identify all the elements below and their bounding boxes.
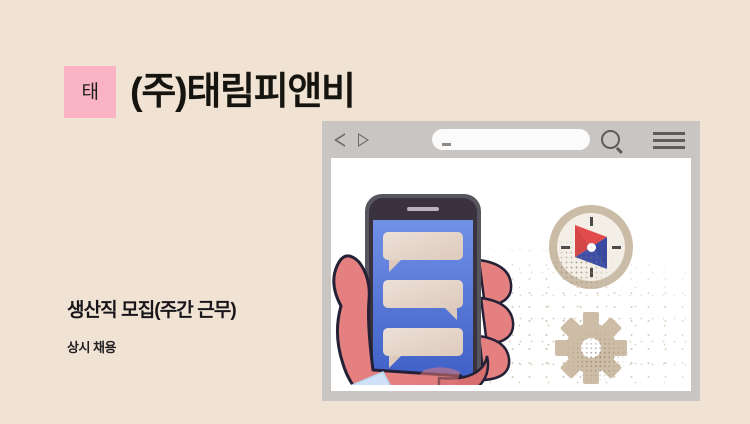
phone-device bbox=[365, 194, 481, 391]
hamburger-menu-icon[interactable] bbox=[653, 132, 685, 148]
back-triangle-icon[interactable] bbox=[334, 133, 345, 147]
poster-canvas: 태 (주)태림피앤비 생산직 모집(주간 근무) 상시 채용 bbox=[0, 0, 750, 424]
gear-icon bbox=[553, 310, 629, 386]
company-logo-text: 태 bbox=[82, 83, 99, 102]
company-logo-badge: 태 bbox=[64, 66, 116, 118]
browser-viewport bbox=[331, 158, 691, 391]
job-subtitle: 상시 채용 bbox=[67, 337, 116, 356]
job-title: 생산직 모집(주간 근무) bbox=[67, 295, 236, 322]
address-bar-input[interactable] bbox=[432, 129, 590, 150]
browser-toolbar bbox=[322, 121, 700, 158]
chat-bubbles bbox=[383, 232, 463, 368]
gear-shape bbox=[553, 310, 629, 386]
compass-face bbox=[557, 213, 625, 281]
compass-icon bbox=[549, 205, 633, 289]
hand-holding-phone bbox=[331, 180, 544, 391]
company-name: (주)태림피앤비 bbox=[130, 73, 355, 111]
compass-hub bbox=[587, 243, 596, 252]
menu-bar-3 bbox=[653, 146, 685, 149]
search-magnifier-icon[interactable] bbox=[601, 130, 620, 149]
text-cursor-icon bbox=[442, 143, 451, 146]
company-header: 태 (주)태림피앤비 bbox=[64, 66, 355, 118]
menu-bar-2 bbox=[653, 139, 685, 142]
viewport-bottom-band bbox=[331, 385, 691, 391]
menu-bar-1 bbox=[653, 132, 685, 135]
browser-window-illustration bbox=[322, 121, 700, 401]
forward-triangle-icon[interactable] bbox=[358, 133, 369, 147]
